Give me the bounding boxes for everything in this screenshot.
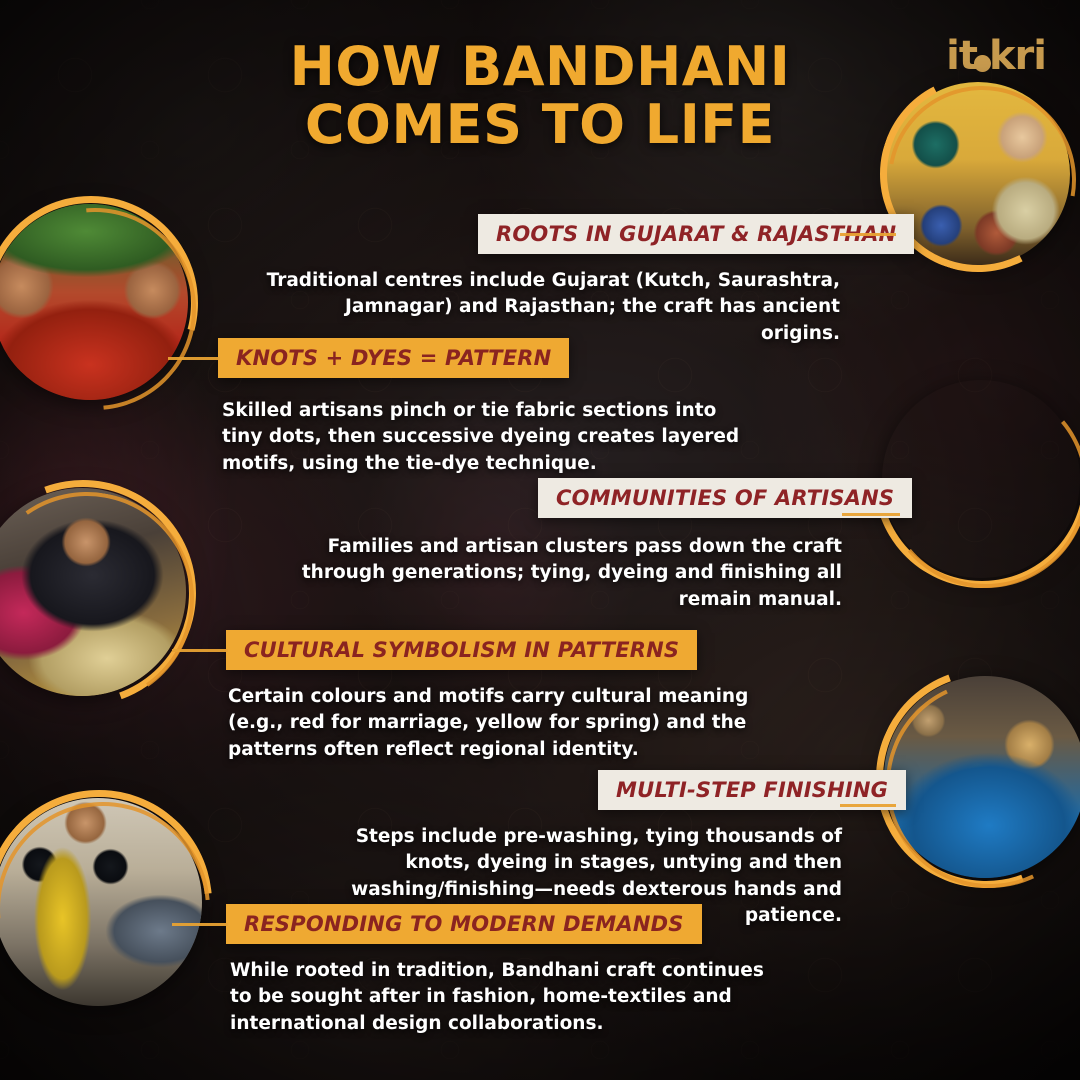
photo-lifting-yellow-disc bbox=[0, 798, 202, 1006]
photo-lifting-yellow bbox=[0, 790, 212, 1016]
section-heading-knots-dyes-label: KNOTS + DYES = PATTERN bbox=[236, 346, 551, 370]
section-heading-modern-demands[interactable]: RESPONDING TO MODERN DEMANDS bbox=[226, 904, 702, 944]
section-body-knots-dyes: Skilled artisans pinch or tie fabric sec… bbox=[222, 398, 752, 477]
page-title-line1: HOW BANDHANI bbox=[290, 35, 791, 98]
photo-woman-artisan bbox=[0, 480, 196, 706]
section-heading-symbolism-label: CULTURAL SYMBOLISM IN PATTERNS bbox=[244, 638, 679, 662]
section-heading-communities-label: COMMUNITIES OF ARTISANS bbox=[556, 486, 894, 510]
section-heading-communities[interactable]: COMMUNITIES OF ARTISANS bbox=[538, 478, 912, 518]
connector-symbolism bbox=[172, 649, 228, 652]
photo-dye-vat-yellow-disc bbox=[884, 676, 1080, 878]
section-heading-finishing-label: MULTI-STEP FINISHING bbox=[616, 778, 888, 802]
section-body-symbolism: Certain colours and motifs carry cultura… bbox=[228, 684, 780, 763]
section-heading-symbolism[interactable]: CULTURAL SYMBOLISM IN PATTERNS bbox=[226, 630, 697, 670]
section-heading-modern-demands-label: RESPONDING TO MODERN DEMANDS bbox=[244, 912, 684, 936]
photo-lifting-yellow-image bbox=[0, 798, 202, 1006]
section-heading-roots-label: ROOTS IN GUJARAT & RAJASTHAN bbox=[496, 222, 896, 246]
photo-dye-vat-yellow bbox=[876, 668, 1080, 888]
connector-knots-dyes bbox=[168, 357, 220, 360]
photo-woman-artisan-image bbox=[0, 488, 186, 696]
infographic-poster: itkri HOW BANDHANI COMES TO LIFE bbox=[0, 0, 1080, 1080]
photo-hands-knotting-disc bbox=[0, 204, 188, 400]
section-body-modern-demands: While rooted in tradition, Bandhani craf… bbox=[230, 958, 786, 1037]
photo-hands-knotting bbox=[0, 196, 200, 412]
section-body-communities: Families and artisan clusters pass down … bbox=[240, 534, 842, 613]
photo-hands-knotting-image bbox=[0, 204, 188, 400]
connector-modern-demands bbox=[172, 923, 228, 926]
connector-communities bbox=[842, 513, 900, 516]
photo-woman-artisan-disc bbox=[0, 488, 186, 696]
section-heading-knots-dyes[interactable]: KNOTS + DYES = PATTERN bbox=[218, 338, 569, 378]
connector-roots bbox=[840, 233, 896, 236]
photo-dye-vat-yellow-image bbox=[884, 676, 1080, 878]
section-body-roots: Traditional centres include Gujarat (Kut… bbox=[260, 268, 840, 347]
connector-finishing bbox=[840, 804, 896, 807]
